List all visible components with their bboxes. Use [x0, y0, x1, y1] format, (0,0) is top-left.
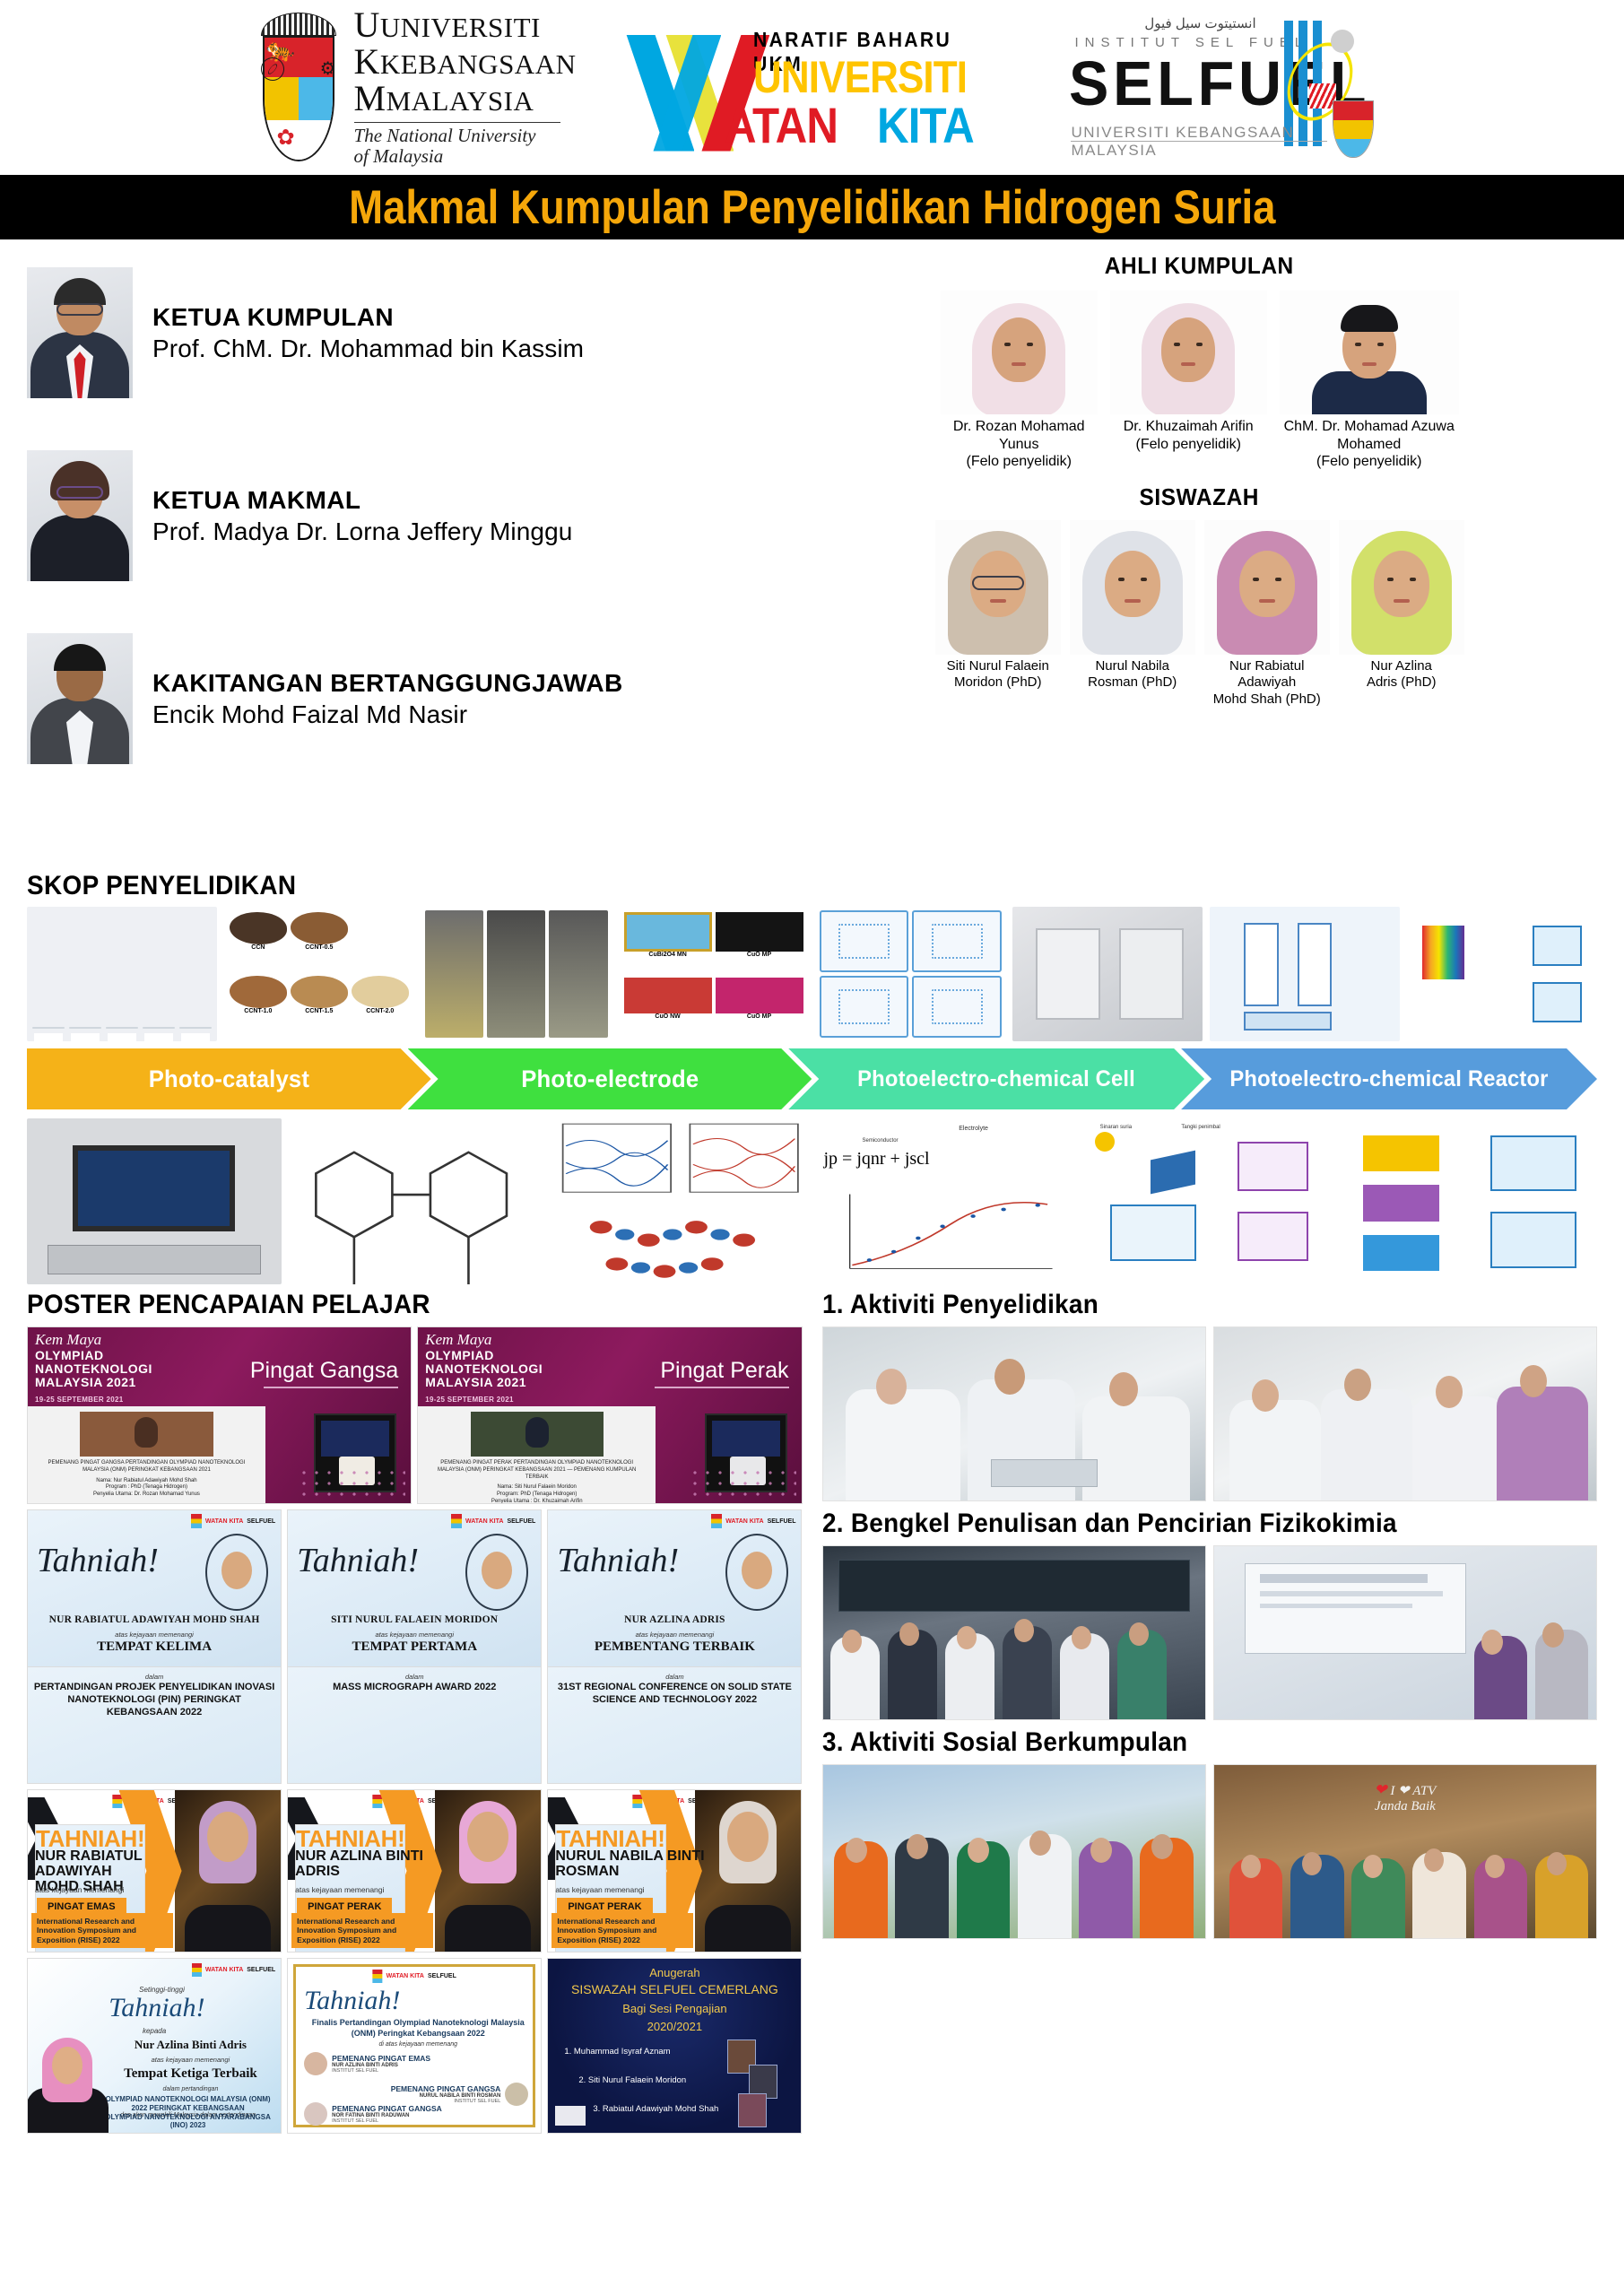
plot-axis-label: Semiconductor [863, 1138, 899, 1144]
cert-dalam: dalam pertandingan [104, 2086, 278, 2092]
selfuel-mini-icon: SELFUEL [507, 1518, 535, 1525]
tahniah-blue-footer: dalam PERTANDINGAN PROJEK PENYELIDIKAN I… [27, 1667, 282, 1784]
graduates-row: Siti Nurul Falaein Moridon (PhD) Nurul N… [802, 520, 1597, 709]
anugerah-label: Anugerah [548, 1966, 801, 1979]
cert-kepada: kepada [143, 2027, 166, 2035]
photoelectrode-films-photo [421, 907, 612, 1041]
tahniah-blue-grid: WATAN KITASELFUEL Tahniah! NUR RABIATUL … [27, 1509, 803, 1784]
anugerah-thumb [738, 2093, 767, 2127]
poster-title-l1: OLYMPIAD [35, 1349, 152, 1362]
tahniah-award: TEMPAT PERTAMA [288, 1639, 541, 1655]
poster-medal-label: Pingat Gangsa [250, 1358, 398, 1384]
photocatalyst-vials-photo [27, 907, 217, 1041]
member-role: (Felo penyelidik) [1280, 453, 1459, 471]
cert-siswazah-cemerlang: Anugerah SISWAZAH SELFUEL CEMERLANG Bagi… [547, 1958, 802, 2134]
gear-icon: ⚙ [320, 57, 336, 80]
watan-mini-icon: WATAN KITA [386, 1973, 424, 1979]
student-name-line1: Nur Rabiatul Adawiyah [1229, 658, 1304, 691]
leader-role: KAKITANGAN BERTANGGUNGJAWAB [152, 668, 623, 698]
portrait-ketua-kumpulan [27, 267, 133, 398]
poster-title-l3: MALAYSIA 2021 [425, 1376, 543, 1389]
final-poster-grid: WATAN KITASELFUEL Setinggi-tinggi Tahnia… [27, 1958, 803, 2134]
powder-label: CCNT-1.0 [230, 1008, 287, 1014]
zoom-logo-icon [555, 2106, 586, 2126]
portrait-student-3 [1204, 520, 1330, 655]
ukm-line2: KEBANGSAAN [380, 48, 577, 80]
leader-role: KETUA KUMPULAN [152, 302, 584, 332]
student-name-line1: Nur Azlina [1371, 658, 1432, 674]
tahniah-name: NUR RABIATUL ADAWIYAH MOHD SHAH [28, 1614, 281, 1625]
scope-stage-arrows: Photo-catalyst Photo-electrode Photoelec… [27, 1048, 1597, 1109]
tahniah-script: Tahniah! [37, 1541, 159, 1580]
people-section: KETUA KUMPULAN Prof. ChM. Dr. Mohammad b… [0, 239, 1624, 867]
members-column: AHLI KUMPULAN Dr. Rozan Mohamad Yunus (F… [780, 252, 1597, 867]
poster-title-l3: MALAYSIA 2021 [35, 1376, 152, 1389]
winner-inst: INSTITUT SEL FUEL [332, 2068, 430, 2074]
student-card: Nurul Nabila Rosman (PhD) [1070, 520, 1195, 709]
tahniah-orange-card: WATAN KITASELFUEL TAHNIAH! NUR RABIATUL … [27, 1789, 282, 1952]
portrait-member-2 [1110, 291, 1267, 414]
leadership-row: KAKITANGAN BERTANGGUNGJAWAB Encik Mohd F… [27, 632, 780, 765]
poster-detail-3: Penyelia Utama : Dr. Khuzaimah Arifin [428, 1499, 647, 1504]
posters-column: POSTER PENCAPAIAN PELAJAR Kem Maya OLYMP… [27, 1290, 803, 2134]
tahniah-blue-card: WATAN KITASELFUEL Tahniah! NUR AZLINA AD… [547, 1509, 802, 1667]
leadership-row: KETUA KUMPULAN Prof. ChM. Dr. Mohammad b… [27, 266, 780, 399]
cert-finalis-onm: WATAN KITASELFUEL Tahniah! Finalis Perta… [287, 1958, 542, 2134]
student-name-line2: Mohd Shah (PhD) [1213, 691, 1321, 707]
tahniah-name: NUR AZLINA ADRIS [548, 1614, 801, 1625]
ukm-logo: 🐅 ⚙ ✿ UUNIVERSITI KKEBANGSAAN MMALAYSIA … [254, 7, 577, 169]
powder-label: CCNT-2.0 [352, 1008, 409, 1014]
portrait-student-4 [1339, 520, 1464, 655]
workshop-presentation-photo [1213, 1545, 1597, 1720]
header-logo-bar: 🐅 ⚙ ✿ UUNIVERSITI KKEBANGSAAN MMALAYSIA … [0, 0, 1624, 175]
leadership-column: KETUA KUMPULAN Prof. ChM. Dr. Mohammad b… [27, 252, 780, 867]
workshop-group-photo [822, 1545, 1206, 1720]
tahniah-name-l1: NURUL NABILA BINTI [555, 1849, 717, 1865]
plot-legend: Electrolyte [959, 1126, 988, 1132]
tahniah-atas: atas kejayaan memenangi [548, 1631, 801, 1639]
portrait-member-3 [1280, 291, 1459, 414]
student-name-line2: Rosman (PhD) [1088, 674, 1177, 690]
ukm-mini-icon [711, 1514, 722, 1528]
stage-arrow-photocatalyst: Photo-catalyst [27, 1048, 431, 1109]
activity-photos-3: ❤ I ❤ ATV Janda Baik [822, 1764, 1598, 1939]
portrait-kakitangan [27, 633, 133, 764]
stage-label: Photo-electrode [521, 1066, 699, 1092]
portrait-member-1 [941, 291, 1098, 414]
tahniah-script: Tahniah! [297, 1541, 419, 1580]
winner-title: PEMENANG PINGAT GANGSA [391, 2084, 501, 2093]
olympiad-poster-grid: Kem Maya OLYMPIAD NANOTEKNOLOGI MALAYSIA… [27, 1326, 803, 1504]
ukm-mini-icon [192, 1963, 202, 1977]
student-card: Nur Rabiatul Adawiyah Mohd Shah (PhD) [1204, 520, 1330, 709]
selfuel-ukm-text: UNIVERSITI KEBANGSAAN MALAYSIA [1071, 124, 1370, 160]
cert-event: OLYMPIAD NANOTEKNOLOGI MALAYSIA (ONM) 20… [99, 2095, 277, 2113]
film-label: CuO MP [716, 952, 803, 958]
tahniah-name-l1: NUR RABIATUL ADAWIYAH [35, 1849, 197, 1880]
members-heading: AHLI KUMPULAN [826, 252, 1573, 280]
ukm-mini-icon [373, 1970, 383, 1983]
tahniah-event: International Research and Innovation Sy… [291, 1913, 433, 1948]
member-card: Dr. Khuzaimah Arifin (Felo penyelidik) [1110, 291, 1267, 471]
anugerah-year: 2020/2021 [548, 2020, 801, 2033]
posters-heading: POSTER PENCAPAIAN PELAJAR [27, 1290, 748, 1320]
photocatalyst-powders-photo: CCN CCNT-0.5 CCNT-1.0 CCNT-1.5 CCNT-2.0 [224, 907, 414, 1041]
outdoor-group-photo [822, 1764, 1206, 1939]
scope-heading: SKOP PENYELIDIKAN [27, 871, 1487, 901]
photocurrent-plot-svg [821, 1187, 1064, 1281]
member-card: Dr. Rozan Mohamad Yunus (Felo penyelidik… [941, 291, 1098, 471]
cert-award: Tempat Ketiga Terbaik [104, 2066, 278, 2082]
diagram-label: Tangki penimbal [1181, 1125, 1220, 1130]
watan-watan-text: ATAN [725, 96, 838, 154]
anugerah-title: SISWAZAH SELFUEL CEMERLANG [548, 1982, 801, 1996]
pec-reactor-schematic [1407, 907, 1597, 1041]
winner-row: PEMENANG PINGAT EMAS NUR AZLINA BINTI AD… [304, 2052, 430, 2075]
winner-avatar [505, 2083, 528, 2106]
process-flow-diagram [1343, 1118, 1598, 1284]
stage-arrow-photoelectrode: Photo-electrode [408, 1048, 812, 1109]
cert-subtitle-2: di atas kejayaan memenang [308, 2041, 528, 2048]
tahniah-dalam: dalam [548, 1673, 801, 1681]
student-name-line2: Moridon (PhD) [954, 674, 1042, 690]
powder-label: CCNT-1.5 [291, 1008, 348, 1014]
poster-title-l2: NANOTEKNOLOGI [35, 1362, 152, 1376]
scope-top-images: CCN CCNT-0.5 CCNT-1.0 CCNT-1.5 CCNT-2.0 … [27, 907, 1597, 1041]
olympiad-poster-bronze: Kem Maya OLYMPIAD NANOTEKNOLOGI MALAYSIA… [27, 1326, 412, 1504]
tahniah-atas: atas kejayaan memenangi [555, 1885, 644, 1894]
hibiscus-icon: ✿ [277, 125, 295, 151]
winner-row: PEMENANG PINGAT GANGSA NOR FATINA BINTI … [304, 2102, 442, 2126]
ukm-mini-icon [112, 1795, 122, 1808]
poster-kem-label: Kem Maya [425, 1331, 491, 1349]
pec-reactor-photo [1210, 907, 1400, 1041]
tahniah-event: MASS MICROGRAPH AWARD 2022 [291, 1682, 537, 1694]
tahniah-award: TEMPAT KELIMA [28, 1639, 281, 1655]
tahniah-blue-card: WATAN KITASELFUEL Tahniah! NUR RABIATUL … [27, 1509, 282, 1667]
cert-script: Tahniah! [304, 1986, 400, 2016]
members-row: Dr. Rozan Mohamad Yunus (Felo penyelidik… [802, 291, 1597, 471]
tahniah-name-l2: ADRIS [295, 1865, 457, 1880]
winner-title: PEMENANG PINGAT GANGSA [332, 2104, 442, 2113]
anugerah-sesi: Bagi Sesi Pengajian [548, 2002, 801, 2015]
member-name: Dr. Rozan Mohamad Yunus [953, 419, 1085, 452]
activities-column: 1. Aktiviti Penyelidikan [822, 1290, 1598, 2134]
diagram-label: Sinaran suria [1100, 1125, 1132, 1130]
film-label: CuBi2O4 MN [624, 952, 712, 958]
poster-title-l1: OLYMPIAD [425, 1349, 543, 1362]
photocurrent-equation-plot: jp = jqnr + jscl Electrolyte Semiconduct… [817, 1118, 1072, 1284]
cert-subtitle: Finalis Pertandingan Olympiad Nanoteknol… [308, 2018, 528, 2039]
leader-name: Prof. Madya Dr. Lorna Jeffery Minggu [152, 517, 572, 547]
stage-arrow-pec-reactor: Photoelectro-chemical Reactor [1181, 1048, 1597, 1109]
poster-caption: PEMENANG PINGAT PERAK PERTANDINGAN OLYMP… [428, 1460, 647, 1481]
member-name: Dr. Khuzaimah Arifin [1124, 419, 1254, 434]
watan-mini-icon: WATAN KITA [465, 1518, 503, 1525]
activity-photos-1 [822, 1326, 1598, 1501]
member-card: ChM. Dr. Mohamad Azuwa Mohamed (Felo pen… [1280, 291, 1459, 471]
stage-arrow-pec-cell: Photoelectro-chemical Cell [788, 1048, 1204, 1109]
tahniah-dalam: dalam [28, 1673, 281, 1681]
sun-icon [1095, 1132, 1115, 1152]
leader-name: Encik Mohd Faizal Md Nasir [152, 700, 623, 730]
selfuel-mini-icon: SELFUEL [768, 1518, 796, 1525]
anugerah-list-item: 2. Siti Nurul Falaein Moridon [578, 2075, 686, 2085]
tahniah-orange-card: WATAN KITASELFUEL TAHNIAH! NUR AZLINA BI… [287, 1789, 542, 1952]
tahniah-blue-card: WATAN KITASELFUEL Tahniah! SITI NURUL FA… [287, 1509, 542, 1667]
lab-work-photo-left [822, 1326, 1206, 1501]
watan-mini-icon: WATAN KITA [725, 1518, 763, 1525]
cert-azlina-third-place: WATAN KITASELFUEL Setinggi-tinggi Tahnia… [27, 1958, 282, 2134]
bottom-section: POSTER PENCAPAIAN PELAJAR Kem Maya OLYMP… [0, 1284, 1624, 2150]
photoelectrode-annealed-photo: CuBi2O4 MN CuO MP CuO NW CuO MP [619, 907, 809, 1041]
winner-avatar [304, 2102, 327, 2126]
watan-mini-icon: WATAN KITA [205, 1967, 243, 1973]
student-name-line1: Siti Nurul Falaein [947, 658, 1049, 674]
poster-detail-1: Nama: Siti Nurul Falaein Moridon [428, 1484, 647, 1492]
poster-detail-1: Nama: Nur Rabiatul Adawiyah Mohd Shah [38, 1478, 256, 1485]
portrait-oval [465, 1534, 528, 1611]
tahniah-script: Tahniah! [557, 1541, 679, 1580]
poster-medal-label: Pingat Perak [660, 1358, 788, 1384]
poster-detail-2: Program: PhD (Tenaga Hidrogen) [428, 1492, 647, 1499]
poster-caption: PEMENANG PINGAT GANGSA PERTANDINGAN OLYM… [38, 1460, 256, 1474]
tahniah-orange-card: WATAN KITASELFUEL TAHNIAH! NURUL NABILA … [547, 1789, 802, 1952]
winner-avatar [304, 2052, 327, 2075]
student-card: Siti Nurul Falaein Moridon (PhD) [935, 520, 1061, 709]
activity-heading-3: 3. Aktiviti Sosial Berkumpulan [822, 1727, 1543, 1758]
anugerah-list-item: 3. Rabiatul Adawiyah Mohd Shah [593, 2104, 718, 2114]
ukm-line3: MALAYSIA [386, 85, 534, 117]
tahniah-atas: atas kejayaan memenangi [295, 1885, 384, 1894]
portrait-cert-person [30, 2007, 106, 2133]
poster-date: 19-25 SEPTEMBER 2021 [35, 1396, 124, 1404]
tahniah-blue-footer: dalam 31ST REGIONAL CONFERENCE ON SOLID … [547, 1667, 802, 1784]
stage-label: Photoelectro-chemical Reactor [1229, 1067, 1548, 1091]
page-title: Makmal Kumpulan Penyelidikan Hidrogen Su… [349, 180, 1275, 235]
ukm-mini-icon [451, 1514, 462, 1528]
tahniah-name: SITI NURUL FALAEIN MORIDON [288, 1614, 541, 1625]
ukm-tagline-1: The National University [354, 126, 577, 147]
molecule-svg [291, 1118, 545, 1284]
activity-heading-2: 2. Bengkel Penulisan dan Pencirian Fizik… [822, 1509, 1543, 1539]
tahniah-orange-grid: WATAN KITASELFUEL TAHNIAH! NUR RABIATUL … [27, 1789, 803, 1952]
tahniah-event: International Research and Innovation Sy… [31, 1913, 173, 1948]
cert-atas: atas kejayaan memenangi [104, 2056, 278, 2064]
film-label: CuO NW [624, 1013, 712, 1020]
poster-date: 19-25 SEPTEMBER 2021 [425, 1396, 514, 1404]
tahniah-event: 31ST REGIONAL CONFERENCE ON SOLID STATE … [551, 1682, 797, 1707]
selfuel-logo: انستيتوت سيل فيول INSTITUT SEL FUEL SELF… [1047, 13, 1370, 161]
portrait-oval [205, 1534, 268, 1611]
ukm-mini-icon [373, 1795, 383, 1808]
ukm-tagline-2: of Malaysia [354, 146, 577, 168]
tahniah-event: PERTANDINGAN PROJEK PENYELIDIKAN INOVASI… [31, 1682, 277, 1718]
tahniah-name-l2: ROSMAN [555, 1865, 717, 1880]
selfuel-mini-icon: SELFUEL [247, 1967, 275, 1973]
tahniah-award: PEMBENTANG TERBAIK [548, 1639, 801, 1655]
ukm-line1: UNIVERSITI [380, 12, 541, 43]
stage-label: Photo-catalyst [149, 1066, 309, 1092]
poster-title-l2: NANOTEKNOLOGI [425, 1362, 543, 1376]
band-structure-plots [553, 1118, 808, 1284]
pec-cell-assembly-photo [1012, 907, 1203, 1041]
leader-name: Prof. ChM. Dr. Mohammad bin Kassim [152, 334, 584, 364]
ukm-mini-icon [633, 1795, 643, 1808]
portrait-ketua-makmal [27, 450, 133, 581]
leadership-row: KETUA MAKMAL Prof. Madya Dr. Lorna Jeffe… [27, 449, 780, 582]
tahniah-atas: atas kejayaan memenangi [35, 1885, 124, 1894]
selfuel-arabic-text: انستيتوت سيل فيول [1110, 15, 1290, 31]
powder-label: CCNT-0.5 [291, 944, 348, 951]
band-structure-svg [553, 1118, 808, 1284]
leader-role: KETUA MAKMAL [152, 485, 572, 515]
selfuel-mini-icon: SELFUEL [247, 1518, 275, 1525]
student-name-line1: Nurul Nabila [1095, 658, 1169, 674]
ukm-mini-icon [191, 1514, 202, 1528]
scope-bottom-images: jp = jqnr + jscl Electrolyte Semiconduct… [27, 1118, 1597, 1284]
lab-group-photo-right [1213, 1326, 1597, 1501]
tahniah-atas: atas kejayaan memenangi [288, 1631, 541, 1639]
molecular-structure-diagram [291, 1118, 545, 1284]
pv-panel-icon [1151, 1150, 1195, 1194]
selfuel-mini-icon: SELFUEL [428, 1973, 456, 1979]
winner-inst: INSTITUT SEL FUEL [332, 2118, 442, 2124]
portrait-oval [725, 1534, 788, 1611]
poster-kem-label: Kem Maya [35, 1331, 101, 1349]
tahniah-name-l1: NUR AZLINA BINTI [295, 1849, 457, 1865]
poster-detail-2: Program : PhD (Tenaga Hidrogen) [38, 1484, 256, 1492]
watan-mini-icon: WATAN KITA [205, 1518, 243, 1525]
pec-cell-array-photo [816, 907, 1006, 1041]
student-name-line2: Adris (PhD) [1367, 674, 1437, 690]
powder-label: CCN [230, 944, 287, 951]
atv-janda-baik-photo: ❤ I ❤ ATV Janda Baik [1213, 1764, 1597, 1939]
anugerah-list-item: 1. Muhammad Isyraf Aznam [564, 2047, 670, 2057]
watan-kita-logo: NARATIF BAHARU UKM UNIVERSITI ATAN KITA [619, 21, 1004, 155]
solar-hydrogen-system-diagram: Sinaran suria Tangki penimbal [1080, 1118, 1334, 1284]
tahniah-event: International Research and Innovation Sy… [551, 1913, 693, 1948]
stage-label: Photoelectro-chemical Cell [857, 1067, 1135, 1091]
member-name: ChM. Dr. Mohamad Azuwa Mohamed [1284, 419, 1455, 452]
tahniah-atas: atas kejayaan memenangi [28, 1631, 281, 1639]
portrait-student-1 [935, 520, 1061, 655]
watan-kita-text: KITA [877, 96, 974, 154]
winner-title: PEMENANG PINGAT EMAS [332, 2054, 430, 2063]
student-card: Nur Azlina Adris (PhD) [1339, 520, 1464, 709]
tahniah-dalam: dalam [288, 1673, 541, 1681]
cert-name: Nur Azlina Binti Adris [104, 2038, 278, 2052]
activity-heading-1: 1. Aktiviti Penyelidikan [822, 1290, 1543, 1320]
film-label: CuO MP [716, 1013, 803, 1020]
activity-photos-2 [822, 1545, 1598, 1720]
graduates-heading: SISWAZAH [826, 483, 1573, 511]
ukm-crest-icon: 🐅 ⚙ ✿ [254, 13, 343, 163]
computational-workstation-photo [27, 1118, 282, 1284]
member-role: (Felo penyelidik) [1110, 436, 1267, 454]
title-banner: Makmal Kumpulan Penyelidikan Hidrogen Su… [0, 175, 1624, 239]
portrait-student-2 [1070, 520, 1195, 655]
cert-script: Tahniah! [109, 1993, 204, 2023]
member-role: (Felo penyelidik) [941, 453, 1098, 471]
scope-section: SKOP PENYELIDIKAN CCN CCNT-0.5 CCNT-1.0 … [0, 867, 1624, 1284]
olympiad-poster-silver: Kem Maya OLYMPIAD NANOTEKNOLOGI MALAYSIA… [417, 1326, 802, 1504]
cert-event-2: OLYMPIAD NANOTEKNOLOGI ANTARABANGSA (INO… [99, 2113, 277, 2130]
photocurrent-equation: jp = jqnr + jscl [824, 1149, 930, 1170]
poster-detail-3: Penyelia Utama: Dr. Rozan Mohamad Yunus [38, 1492, 256, 1499]
tahniah-blue-footer: dalam MASS MICROGRAPH AWARD 2022 [287, 1667, 542, 1784]
